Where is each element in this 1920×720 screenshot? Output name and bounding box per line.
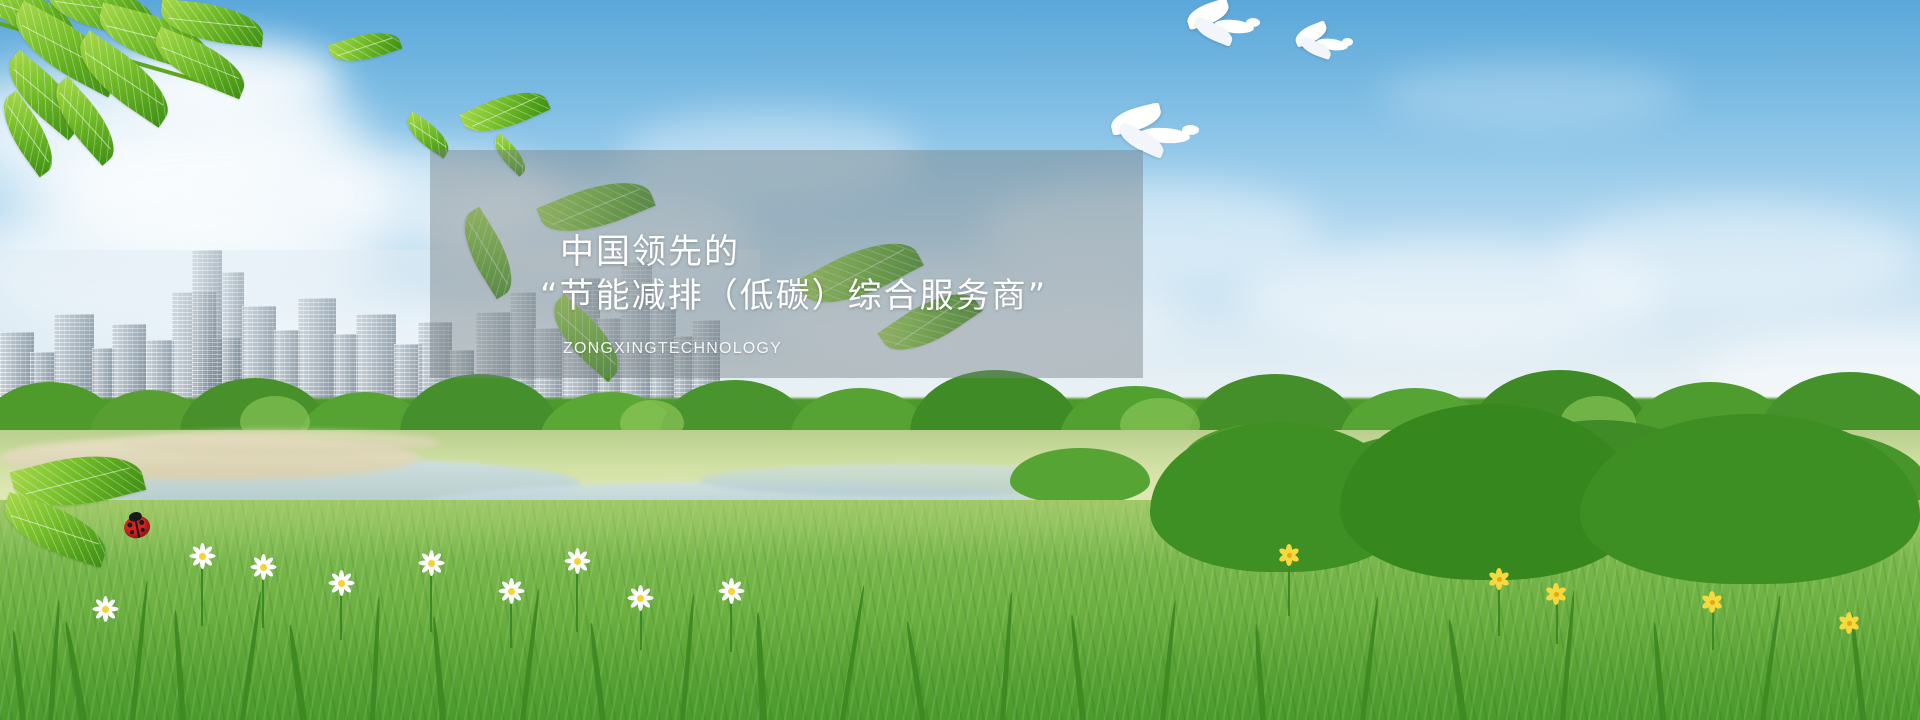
headline-line-2: “节能减排（低碳）综合服务商” bbox=[540, 268, 1047, 317]
daisy-flower bbox=[496, 576, 526, 606]
daisy-flower bbox=[326, 568, 356, 598]
daisy-flower bbox=[414, 546, 448, 580]
yellow-flower bbox=[1838, 612, 1860, 634]
grass-foreground bbox=[0, 500, 1920, 720]
daisy-flower bbox=[716, 576, 746, 606]
daisy-flower bbox=[248, 552, 278, 582]
daisy-flower bbox=[560, 544, 594, 578]
headline-line-1: 中国领先的 bbox=[560, 224, 740, 273]
company-subtitle: ZONGXINGTECHNOLOGY bbox=[563, 340, 782, 358]
banner-image: 中国领先的 “节能减排（低碳）综合服务商” ZONGXINGTECHNOLOGY bbox=[0, 0, 1920, 720]
headline-block: 中国领先的 “节能减排（低碳）综合服务商” ZONGXINGTECHNOLOGY bbox=[430, 150, 1143, 378]
daisy-flower bbox=[186, 540, 218, 572]
daisy-flower bbox=[92, 596, 118, 622]
dove-icon bbox=[1290, 26, 1352, 64]
daisy-flower bbox=[626, 584, 654, 612]
yellow-flower bbox=[1544, 582, 1568, 606]
yellow-flower bbox=[1486, 566, 1512, 592]
text-overlay-panel: 中国领先的 “节能减排（低碳）综合服务商” ZONGXINGTECHNOLOGY bbox=[430, 150, 1143, 378]
dove-icon bbox=[1180, 4, 1260, 50]
yellow-flower bbox=[1276, 542, 1302, 568]
yellow-flower bbox=[1700, 590, 1724, 614]
